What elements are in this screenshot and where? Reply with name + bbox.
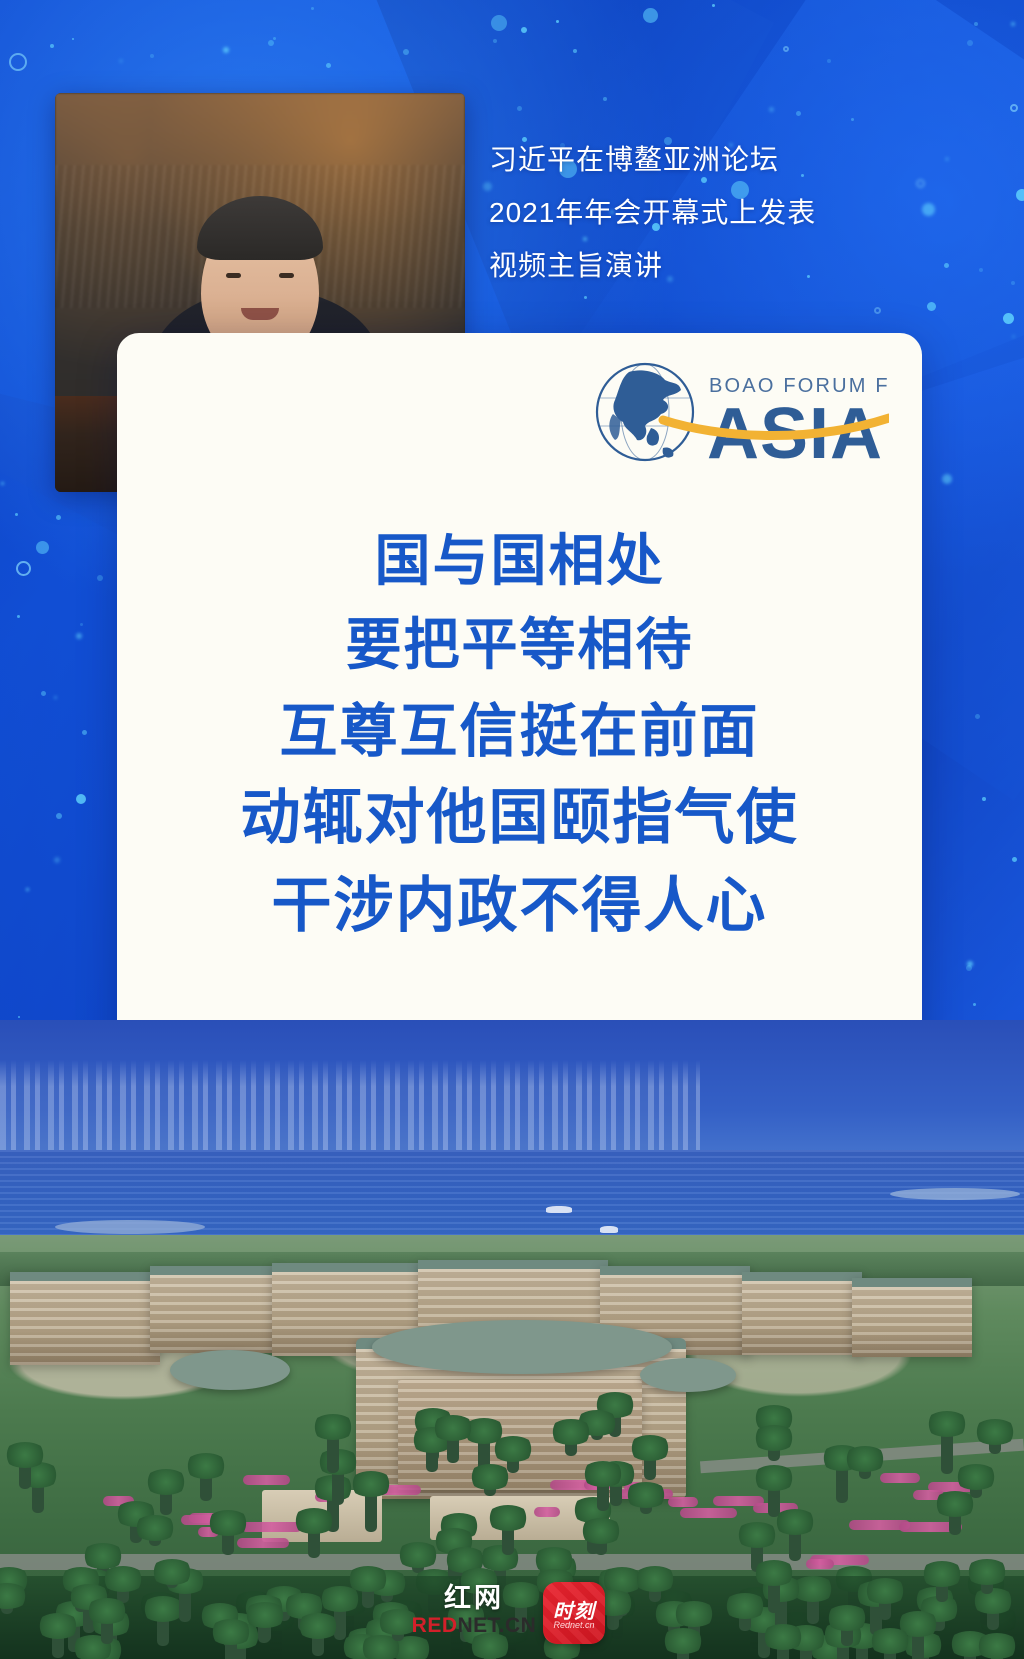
boao-resort-aerial-photo	[0, 1020, 1024, 1659]
scene-palm-tree	[597, 1475, 609, 1511]
background-dot	[517, 106, 522, 111]
quote-line-2: 要把平等相待	[117, 618, 922, 702]
background-dot	[584, 296, 587, 299]
scene-building	[852, 1278, 972, 1357]
rednet-logo: 红网 REDNET.CN	[404, 1584, 544, 1638]
globe-icon	[597, 364, 693, 460]
background-dot	[268, 40, 274, 46]
rednet-logo-en-red: RED	[412, 1614, 458, 1637]
headline-text: 习近平在博鳌亚洲论坛 2021年年会开幕式上发表 视频主旨演讲	[489, 133, 909, 292]
headline-line-3: 视频主旨演讲	[489, 239, 909, 292]
background-dot	[783, 46, 789, 52]
background-dot	[273, 37, 276, 40]
scene-palm-tree	[200, 1467, 212, 1501]
boao-forum-logo-svg: BOAO FORUM FOR ASIA	[589, 360, 889, 465]
background-dot	[851, 118, 854, 121]
background-dot	[311, 7, 314, 10]
portrait-mouth	[241, 308, 279, 320]
quote-line-3: 互尊互信挺在前面	[117, 702, 922, 788]
background-dot	[974, 22, 978, 26]
rednet-logo-en-dark: NET.CN	[458, 1614, 537, 1637]
scene-flowerbed	[668, 1497, 698, 1507]
background-dot	[223, 47, 229, 53]
background-dot	[50, 44, 54, 48]
scene-building	[742, 1272, 862, 1355]
background-dot	[493, 39, 497, 43]
background-dot	[769, 107, 774, 112]
background-dot	[944, 263, 949, 268]
background-dot	[1016, 189, 1024, 201]
background-dot	[966, 965, 972, 971]
scene-palm-tree	[447, 1429, 459, 1463]
background-dot	[927, 302, 936, 311]
background-dot	[973, 1003, 976, 1006]
background-dot	[26, 888, 29, 891]
background-dot	[556, 20, 559, 23]
boao-forum-logo: BOAO FORUM FOR ASIA	[589, 360, 889, 465]
scene-pavilion-dome	[170, 1350, 290, 1390]
background-dot	[82, 730, 87, 735]
background-dot	[827, 59, 831, 63]
background-dot	[922, 203, 935, 216]
background-dot	[967, 40, 973, 46]
scene-palm-tree	[160, 1483, 172, 1515]
background-dot	[54, 696, 57, 699]
scene-flowerbed	[237, 1538, 289, 1548]
background-dot	[874, 307, 881, 314]
background-dot	[56, 515, 61, 520]
background-dot	[403, 49, 409, 55]
poster-canvas: 习近平在博鳌亚洲论坛 2021年年会开幕式上发表 视频主旨演讲 BOAO FOR…	[0, 0, 1024, 1659]
background-dot	[56, 813, 62, 819]
scene-palm-tree	[149, 1529, 161, 1546]
rednet-logo-cn: 红网	[404, 1584, 544, 1614]
scene-palm-tree	[789, 1523, 801, 1561]
background-dot	[326, 63, 331, 68]
scene-palm-tree	[989, 1433, 1001, 1454]
quote-text: 国与国相处 要把平等相待 互尊互信挺在前面 动辄对他国颐指气使 干涉内政不得人心	[117, 520, 922, 942]
background-dot	[1011, 281, 1015, 285]
rednet-app-icon: 时刻 Rednet.cn	[543, 1582, 605, 1644]
background-dot	[521, 27, 527, 33]
scene-palm-tree	[327, 1428, 339, 1473]
scene-islet	[890, 1188, 1020, 1200]
scene-palm-tree	[768, 1479, 780, 1517]
background-dot	[975, 714, 980, 719]
scene-palm-tree	[32, 1476, 44, 1513]
scene-palm-tree	[859, 1460, 871, 1479]
background-dot	[491, 15, 507, 31]
background-dot	[150, 54, 154, 58]
scene-palm-tree	[308, 1522, 320, 1558]
background-dot	[945, 157, 949, 161]
scene-flowerbed	[806, 1559, 834, 1569]
scene-boat	[600, 1226, 618, 1233]
background-dot	[76, 633, 82, 639]
background-dot	[796, 111, 801, 116]
scene-islet	[55, 1220, 205, 1234]
background-dot	[1012, 335, 1015, 338]
headline-line-2: 2021年年会开幕式上发表	[489, 186, 909, 239]
scene-palm-tree	[640, 1496, 652, 1514]
scene-palm-tree	[644, 1449, 656, 1480]
background-dot	[1010, 104, 1018, 112]
background-dot	[119, 59, 123, 63]
scene-main-hall-roof	[372, 1320, 672, 1374]
quote-line-4: 动辄对他国颐指气使	[117, 788, 922, 876]
scene-palm-tree	[941, 1425, 953, 1474]
scene-flowerbed	[534, 1507, 560, 1517]
scene-palm-tree	[365, 1485, 377, 1532]
background-dot	[72, 38, 74, 40]
background-dot	[76, 794, 86, 804]
scene-palm-tree	[484, 1478, 496, 1496]
background-dot	[36, 541, 49, 554]
background-dot	[41, 691, 46, 696]
background-dot	[1, 482, 4, 485]
scene-boat	[546, 1206, 572, 1213]
quote-line-1: 国与国相处	[117, 520, 922, 618]
scene-palm-tree	[19, 1456, 31, 1489]
scene-palm-tree	[222, 1524, 234, 1555]
scene-flowerbed	[880, 1473, 920, 1483]
scene-building	[150, 1266, 280, 1353]
background-dot	[1011, 22, 1015, 26]
background-dot	[712, 4, 715, 7]
background-dot	[643, 8, 658, 23]
background-dot	[18, 1016, 20, 1018]
scene-palm-tree	[426, 1441, 438, 1472]
rednet-logo-en: REDNET.CN	[404, 1614, 544, 1638]
background-dot	[9, 53, 27, 71]
background-dot	[942, 474, 952, 484]
scene-palm-tree	[502, 1519, 514, 1555]
background-dot	[15, 513, 18, 516]
scene-flowerbed	[680, 1508, 737, 1518]
background-dot	[97, 575, 103, 581]
rednet-app-icon-en: Rednet.cn	[543, 1620, 605, 1630]
background-dot	[16, 561, 31, 576]
scene-palm-tree	[595, 1532, 607, 1555]
background-dot	[17, 615, 20, 618]
background-dot	[1012, 857, 1017, 862]
scene-pavilion-dome	[640, 1358, 736, 1392]
portrait-eye-left	[226, 273, 241, 278]
background-dot	[54, 857, 60, 863]
background-dot	[573, 49, 577, 53]
scene-palm-tree	[565, 1433, 577, 1456]
background-dot	[603, 97, 607, 101]
background-dot	[1003, 313, 1014, 324]
scene-building	[10, 1272, 160, 1365]
background-dot	[982, 797, 986, 801]
background-dot	[916, 179, 925, 188]
watermark-bar: 红网 REDNET.CN 时刻 Rednet.cn	[0, 1578, 1024, 1656]
portrait-eye-right	[279, 273, 294, 278]
scene-flowerbed	[243, 1475, 290, 1485]
headline-line-1: 习近平在博鳌亚洲论坛	[489, 133, 909, 186]
scene-palm-tree	[768, 1439, 780, 1461]
background-dot	[80, 623, 83, 626]
background-dot	[979, 268, 983, 272]
quote-line-5: 干涉内政不得人心	[117, 876, 922, 942]
scene-palm-tree	[949, 1505, 961, 1535]
